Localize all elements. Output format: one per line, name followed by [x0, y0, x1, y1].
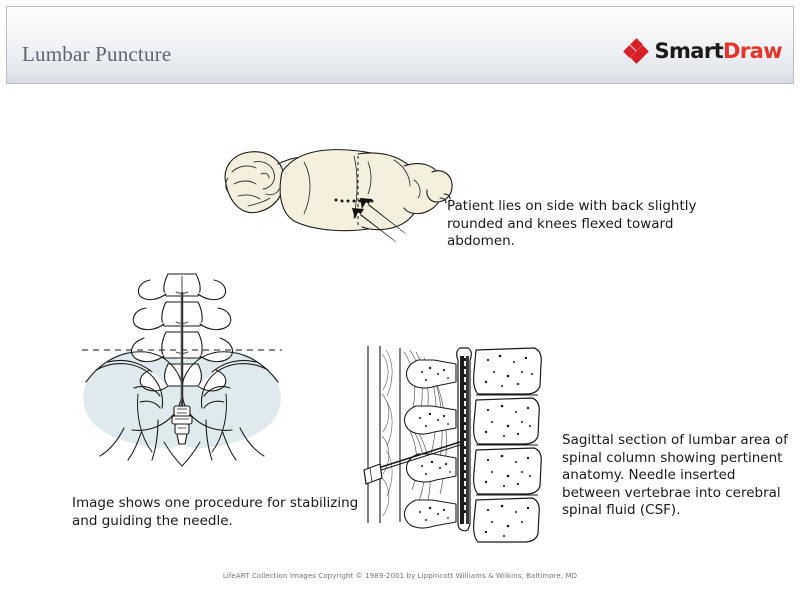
copyright-footer: LifeART Collection Images Copyright © 19… — [0, 572, 800, 580]
infant-lateral-position-illustration — [208, 132, 456, 252]
smartdraw-logo[interactable]: SmartDraw — [625, 40, 782, 62]
page-title: Lumbar Puncture — [22, 42, 171, 67]
sagittal-lumbar-section-illustration — [360, 338, 560, 543]
caption-stabilizing-needle: Image shows one procedure for stabilizin… — [72, 495, 372, 530]
caption-sagittal-section: Sagittal section of lumbar area of spina… — [562, 432, 792, 520]
spinal-needle — [181, 292, 182, 408]
caption-patient-position: Patient lies on side with back slightly … — [447, 198, 737, 251]
smartdraw-wordmark: SmartDraw — [654, 41, 782, 62]
needle-stabilizing-hands-illustration — [78, 262, 286, 470]
logo-text-smart: Smart — [654, 39, 723, 63]
logo-text-draw: Draw — [723, 39, 782, 63]
smartdraw-diamond-icon — [625, 40, 647, 62]
